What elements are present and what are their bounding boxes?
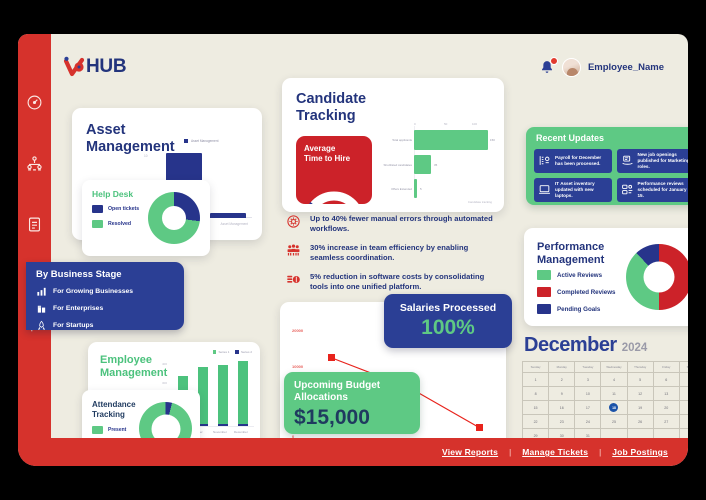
benefit-item: 5% reduction in software costs by consol… bbox=[286, 272, 500, 292]
calendar-day[interactable]: 8 bbox=[523, 387, 549, 401]
dashboard-frame: $ HUB Employee_Name Asset Management bbox=[18, 34, 688, 466]
performance-legend: Active Reviews Completed Reviews Pending… bbox=[537, 270, 615, 314]
business-stage-panel[interactable]: By Business Stage For Growing Businesses… bbox=[26, 262, 184, 330]
benefits-list: Up to 40% fewer manual errors through au… bbox=[286, 214, 500, 301]
calendar-day[interactable]: 3 bbox=[575, 373, 601, 387]
legend-swatch bbox=[92, 426, 103, 434]
people-org-icon[interactable] bbox=[26, 155, 43, 172]
bar-chart-icon bbox=[36, 286, 47, 297]
calendar-day-today[interactable]: 18 bbox=[601, 401, 627, 415]
user-area[interactable]: Employee_Name bbox=[539, 58, 664, 77]
bar-value: 150 bbox=[490, 138, 495, 142]
update-text: Payroll for December has been processed. bbox=[555, 155, 608, 167]
legend-swatch bbox=[537, 270, 551, 280]
recent-updates-title: Recent Updates bbox=[536, 133, 604, 143]
calendar-day[interactable]: 5 bbox=[628, 373, 654, 387]
bar-label: Offers Extended bbox=[382, 187, 412, 191]
calendar-day[interactable]: 12 bbox=[628, 387, 654, 401]
calendar-header: December 2024 bbox=[524, 334, 688, 357]
update-card-payroll[interactable]: Payroll for December has been processed. bbox=[534, 149, 612, 173]
calendar-day[interactable]: 24 bbox=[575, 415, 601, 429]
legend-item: Pending Goals bbox=[537, 304, 615, 314]
calendar-day[interactable]: 16 bbox=[549, 401, 575, 415]
help-desk-legend: Open tickets Resolved bbox=[92, 205, 139, 228]
gauge-icon[interactable] bbox=[26, 94, 43, 111]
sidebar-icon-list bbox=[18, 94, 51, 233]
help-desk-title: Help Desk bbox=[92, 189, 133, 199]
footer-separator: | bbox=[509, 448, 511, 457]
benefit-item: Up to 40% fewer manual errors through au… bbox=[286, 214, 500, 234]
performance-review-icon bbox=[621, 183, 634, 196]
legend-swatch bbox=[537, 287, 551, 297]
calendar-day[interactable]: 11 bbox=[601, 387, 627, 401]
attendance-title: Attendance Tracking bbox=[92, 400, 136, 419]
legend-label: Completed Reviews bbox=[557, 289, 615, 296]
footer-link-view-reports[interactable]: View Reports bbox=[442, 447, 498, 457]
y-tick: 400 bbox=[162, 362, 167, 366]
x-tick: December bbox=[234, 430, 248, 434]
salaries-processed-tile[interactable]: Salaries Processed 100% bbox=[384, 294, 512, 348]
benefit-text: Up to 40% fewer manual errors through au… bbox=[310, 214, 500, 234]
legend-label: Asset Management bbox=[191, 139, 218, 143]
calendar-day[interactable]: 15 bbox=[523, 401, 549, 415]
chart-legend: Series 1 Series 2 bbox=[213, 350, 252, 354]
time-to-hire-gauge bbox=[302, 182, 366, 204]
update-text: Performance reviews scheduled for Januar… bbox=[638, 181, 689, 199]
calendar-day[interactable]: 21 bbox=[680, 401, 688, 415]
business-stage-label: For Enterprises bbox=[53, 305, 103, 312]
legend-item: Open tickets bbox=[92, 205, 139, 213]
help-desk-donut-chart bbox=[148, 192, 200, 244]
salaries-processed-title: Salaries Processed bbox=[384, 302, 512, 314]
app-logo[interactable]: HUB bbox=[62, 56, 126, 78]
candidate-tracking-chart: 0 50 100 Total applicants 150 Shortliste… bbox=[382, 122, 494, 204]
footer-link-job-postings[interactable]: Job Postings bbox=[612, 447, 668, 457]
business-stage-item-growing[interactable]: For Growing Businesses bbox=[36, 286, 133, 297]
average-time-to-hire-label: Average Time to Hire bbox=[304, 144, 350, 164]
upcoming-budget-title: Upcoming Budget Allocations bbox=[294, 380, 380, 404]
legend-item: Resolved bbox=[92, 220, 139, 228]
calendar-day[interactable]: 14 bbox=[680, 387, 688, 401]
bar bbox=[414, 155, 431, 174]
calendar-day[interactable]: 17 bbox=[575, 401, 601, 415]
upcoming-budget-tile[interactable]: Upcoming Budget Allocations $15,000 bbox=[284, 372, 420, 434]
salaries-processed-value: 100% bbox=[384, 316, 512, 340]
building-icon bbox=[36, 303, 47, 314]
candidate-tracking-title: Candidate Tracking bbox=[296, 91, 366, 124]
calendar-day[interactable]: 28 bbox=[680, 415, 688, 429]
x-axis-label: Asset Management bbox=[221, 222, 248, 226]
notification-badge bbox=[550, 57, 558, 65]
gear-icon bbox=[286, 214, 301, 229]
bell-icon[interactable] bbox=[539, 59, 555, 76]
calendar-dow: Tuesday bbox=[575, 362, 601, 373]
performance-donut-chart bbox=[626, 244, 688, 310]
legend-item: Series 2 bbox=[235, 350, 252, 354]
legend-label: Resolved bbox=[108, 221, 131, 227]
business-stage-title: By Business Stage bbox=[36, 269, 122, 280]
legend-swatch bbox=[92, 220, 103, 228]
x-tick: 100 bbox=[472, 122, 477, 126]
candidate-tracking-card[interactable]: Candidate Tracking Average Time to Hire … bbox=[282, 78, 504, 212]
logo-text: HUB bbox=[86, 56, 126, 78]
calendar-day[interactable]: 26 bbox=[628, 415, 654, 429]
benefit-text: 5% reduction in software costs by consol… bbox=[310, 272, 500, 292]
legend-label: Pending Goals bbox=[557, 306, 600, 313]
x-tick: 50 bbox=[444, 122, 447, 126]
bar-value: 35 bbox=[434, 163, 437, 167]
business-stage-label: For Startups bbox=[53, 322, 93, 329]
avatar[interactable] bbox=[562, 58, 581, 77]
laptop-icon bbox=[538, 183, 551, 196]
y-tick: 300 bbox=[162, 381, 167, 385]
legend-label: Active Reviews bbox=[557, 272, 602, 279]
calendar-dow: Friday bbox=[654, 362, 680, 373]
footer-bar: View Reports | Manage Tickets | Job Post… bbox=[18, 438, 688, 466]
business-stage-item-enterprises[interactable]: For Enterprises bbox=[36, 303, 133, 314]
upcoming-budget-value: $15,000 bbox=[294, 406, 370, 430]
legend-swatch bbox=[537, 304, 551, 314]
calendar-day[interactable]: 22 bbox=[523, 415, 549, 429]
logo-mark-icon bbox=[62, 56, 88, 78]
update-card-performance-reviews[interactable]: Performance reviews scheduled for Januar… bbox=[617, 178, 689, 202]
calendar-day[interactable]: 4 bbox=[601, 373, 627, 387]
legend-item: Series 1 bbox=[213, 350, 230, 354]
benefit-item: 30% increase in team efficiency by enabl… bbox=[286, 243, 500, 263]
calendar-day[interactable]: 25 bbox=[601, 415, 627, 429]
calendar-day[interactable]: 2 bbox=[549, 373, 575, 387]
benefit-text: 30% increase in team efficiency by enabl… bbox=[310, 243, 500, 263]
calendar-day[interactable]: 10 bbox=[575, 387, 601, 401]
footer-separator: | bbox=[599, 448, 601, 457]
bar-label: Total applicants bbox=[382, 138, 412, 142]
recent-updates-grid: Payroll for December has been processed.… bbox=[534, 149, 688, 198]
job-posting-icon bbox=[621, 154, 634, 167]
bar bbox=[414, 179, 417, 198]
employee-management-title: Employee Management bbox=[100, 354, 167, 379]
business-stage-label: For Growing Businesses bbox=[53, 288, 133, 295]
document-icon[interactable] bbox=[26, 216, 43, 233]
performance-management-card[interactable]: Performance Management Active Reviews Co… bbox=[524, 228, 688, 326]
legend-label: Present bbox=[108, 427, 126, 433]
bar bbox=[210, 213, 246, 218]
calendar-grid[interactable]: SundayMondayTuesdayWednesdayThursdayFrid… bbox=[522, 361, 688, 443]
calendar-day[interactable]: 7 bbox=[680, 373, 688, 387]
calendar-dow: Wednesday bbox=[601, 362, 627, 373]
legend-label: Open tickets bbox=[108, 206, 139, 212]
asset-chart-legend: Asset Management bbox=[184, 139, 218, 143]
calendar-day[interactable]: 23 bbox=[549, 415, 575, 429]
legend-swatch bbox=[184, 139, 188, 143]
update-card-it-assets[interactable]: IT Asset inventory updated with new lapt… bbox=[534, 178, 612, 202]
user-name: Employee_Name bbox=[588, 62, 664, 73]
bar-label: Shortlisted candidates bbox=[382, 163, 412, 167]
calendar-month: December bbox=[524, 334, 617, 357]
money-stack-icon bbox=[286, 272, 301, 287]
business-stage-item-startups[interactable]: For Startups bbox=[36, 320, 133, 331]
rocket-icon bbox=[36, 320, 47, 331]
payroll-icon bbox=[538, 154, 551, 167]
calendar-dow: Monday bbox=[549, 362, 575, 373]
update-text: New job openings published for Marketing… bbox=[638, 152, 689, 170]
recent-updates-panel[interactable]: Recent Updates Payroll for December has … bbox=[526, 127, 688, 205]
calendar-dow: Saturday bbox=[680, 362, 688, 373]
footer-link-manage-tickets[interactable]: Manage Tickets bbox=[522, 447, 588, 457]
team-icon bbox=[286, 243, 301, 258]
legend-item: Active Reviews bbox=[537, 270, 615, 280]
chart-footer-label: Candidate tracking bbox=[468, 200, 492, 204]
update-card-job-openings[interactable]: New job openings published for Marketing… bbox=[617, 149, 689, 173]
calendar-day[interactable]: 27 bbox=[654, 415, 680, 429]
calendar-day[interactable]: 6 bbox=[654, 373, 680, 387]
data-point bbox=[476, 424, 483, 431]
average-time-to-hire-tile[interactable]: Average Time to Hire bbox=[296, 136, 372, 204]
y-tick: 10 bbox=[144, 154, 148, 158]
calendar-day[interactable]: 1 bbox=[523, 373, 549, 387]
legend-swatch bbox=[92, 205, 103, 213]
update-text: IT Asset inventory updated with new lapt… bbox=[555, 181, 608, 199]
calendar-dow: Sunday bbox=[523, 362, 549, 373]
calendar-year: 2024 bbox=[622, 342, 648, 354]
calendar-day[interactable]: 19 bbox=[628, 401, 654, 415]
x-tick: November bbox=[213, 430, 227, 434]
legend-item: Present bbox=[92, 426, 126, 434]
calendar-dow: Thursday bbox=[628, 362, 654, 373]
help-desk-card[interactable]: Help Desk Open tickets Resolved bbox=[82, 180, 210, 256]
calendar-day[interactable]: 13 bbox=[654, 387, 680, 401]
performance-management-title: Performance Management bbox=[537, 241, 604, 267]
bar bbox=[238, 361, 248, 426]
bar bbox=[414, 130, 488, 150]
business-stage-list: For Growing Businesses For Enterprises F… bbox=[36, 286, 133, 331]
bar-value: 5 bbox=[420, 187, 422, 191]
calendar-day[interactable]: 9 bbox=[549, 387, 575, 401]
calendar-day[interactable]: 20 bbox=[654, 401, 680, 415]
legend-item: Completed Reviews bbox=[537, 287, 615, 297]
data-point bbox=[328, 354, 335, 361]
bar bbox=[218, 365, 228, 426]
